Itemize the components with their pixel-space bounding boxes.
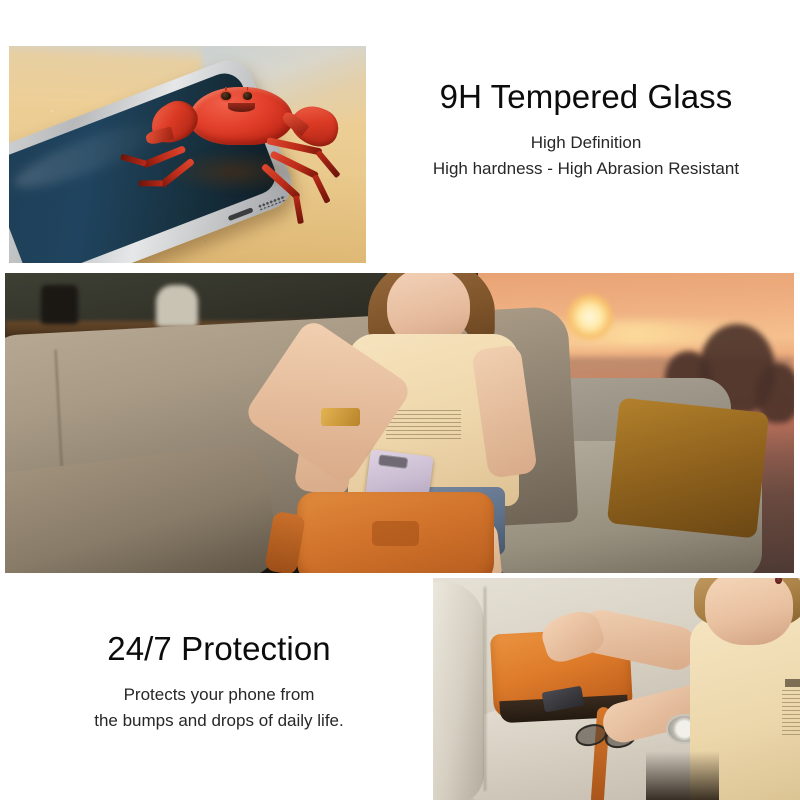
protection-headline: 24/7 Protection — [14, 630, 424, 668]
protection-subline-1: Protects your phone from — [14, 682, 424, 708]
crab-eye-left — [221, 92, 230, 100]
crab-phone-photo — [9, 46, 366, 263]
tempered-glass-subline-2: High hardness - High Abrasion Resistant — [380, 156, 792, 182]
sofa-seam — [484, 587, 486, 791]
dropping-bag-photo — [433, 578, 800, 800]
woman-head-shocked — [705, 578, 793, 645]
crab-shell — [189, 87, 293, 145]
handbag-tab — [372, 521, 419, 546]
crab-pincer-left — [145, 127, 174, 146]
tank-top-paragraph-print — [782, 690, 800, 736]
vase — [41, 285, 77, 324]
tank-top-brand-print — [785, 679, 800, 687]
orange-handbag — [297, 492, 494, 573]
crab-mouth — [228, 103, 255, 112]
tempered-glass-subline-1: High Definition — [380, 130, 792, 156]
protection-subline-2: the bumps and drops of daily life. — [14, 708, 424, 734]
mustard-pillow — [606, 398, 768, 539]
sofa-sunset-photo — [5, 273, 794, 573]
open-mouth — [775, 578, 782, 584]
gold-bracelet — [321, 408, 360, 426]
crab-eye-right — [243, 92, 252, 100]
table-lamp — [156, 285, 198, 327]
tempered-glass-text-block: 9H Tempered Glass High Definition High h… — [380, 78, 792, 183]
protection-text-block: 24/7 Protection Protects your phone from… — [14, 630, 424, 735]
tank-top-print — [386, 410, 461, 441]
red-crab — [148, 74, 334, 200]
bottom-shadow — [646, 751, 719, 800]
sun — [567, 294, 613, 340]
product-feature-page: 9H Tempered Glass High Definition High h… — [0, 0, 800, 800]
sofa-armrest-left — [433, 582, 484, 800]
tempered-glass-headline: 9H Tempered Glass — [380, 78, 792, 116]
